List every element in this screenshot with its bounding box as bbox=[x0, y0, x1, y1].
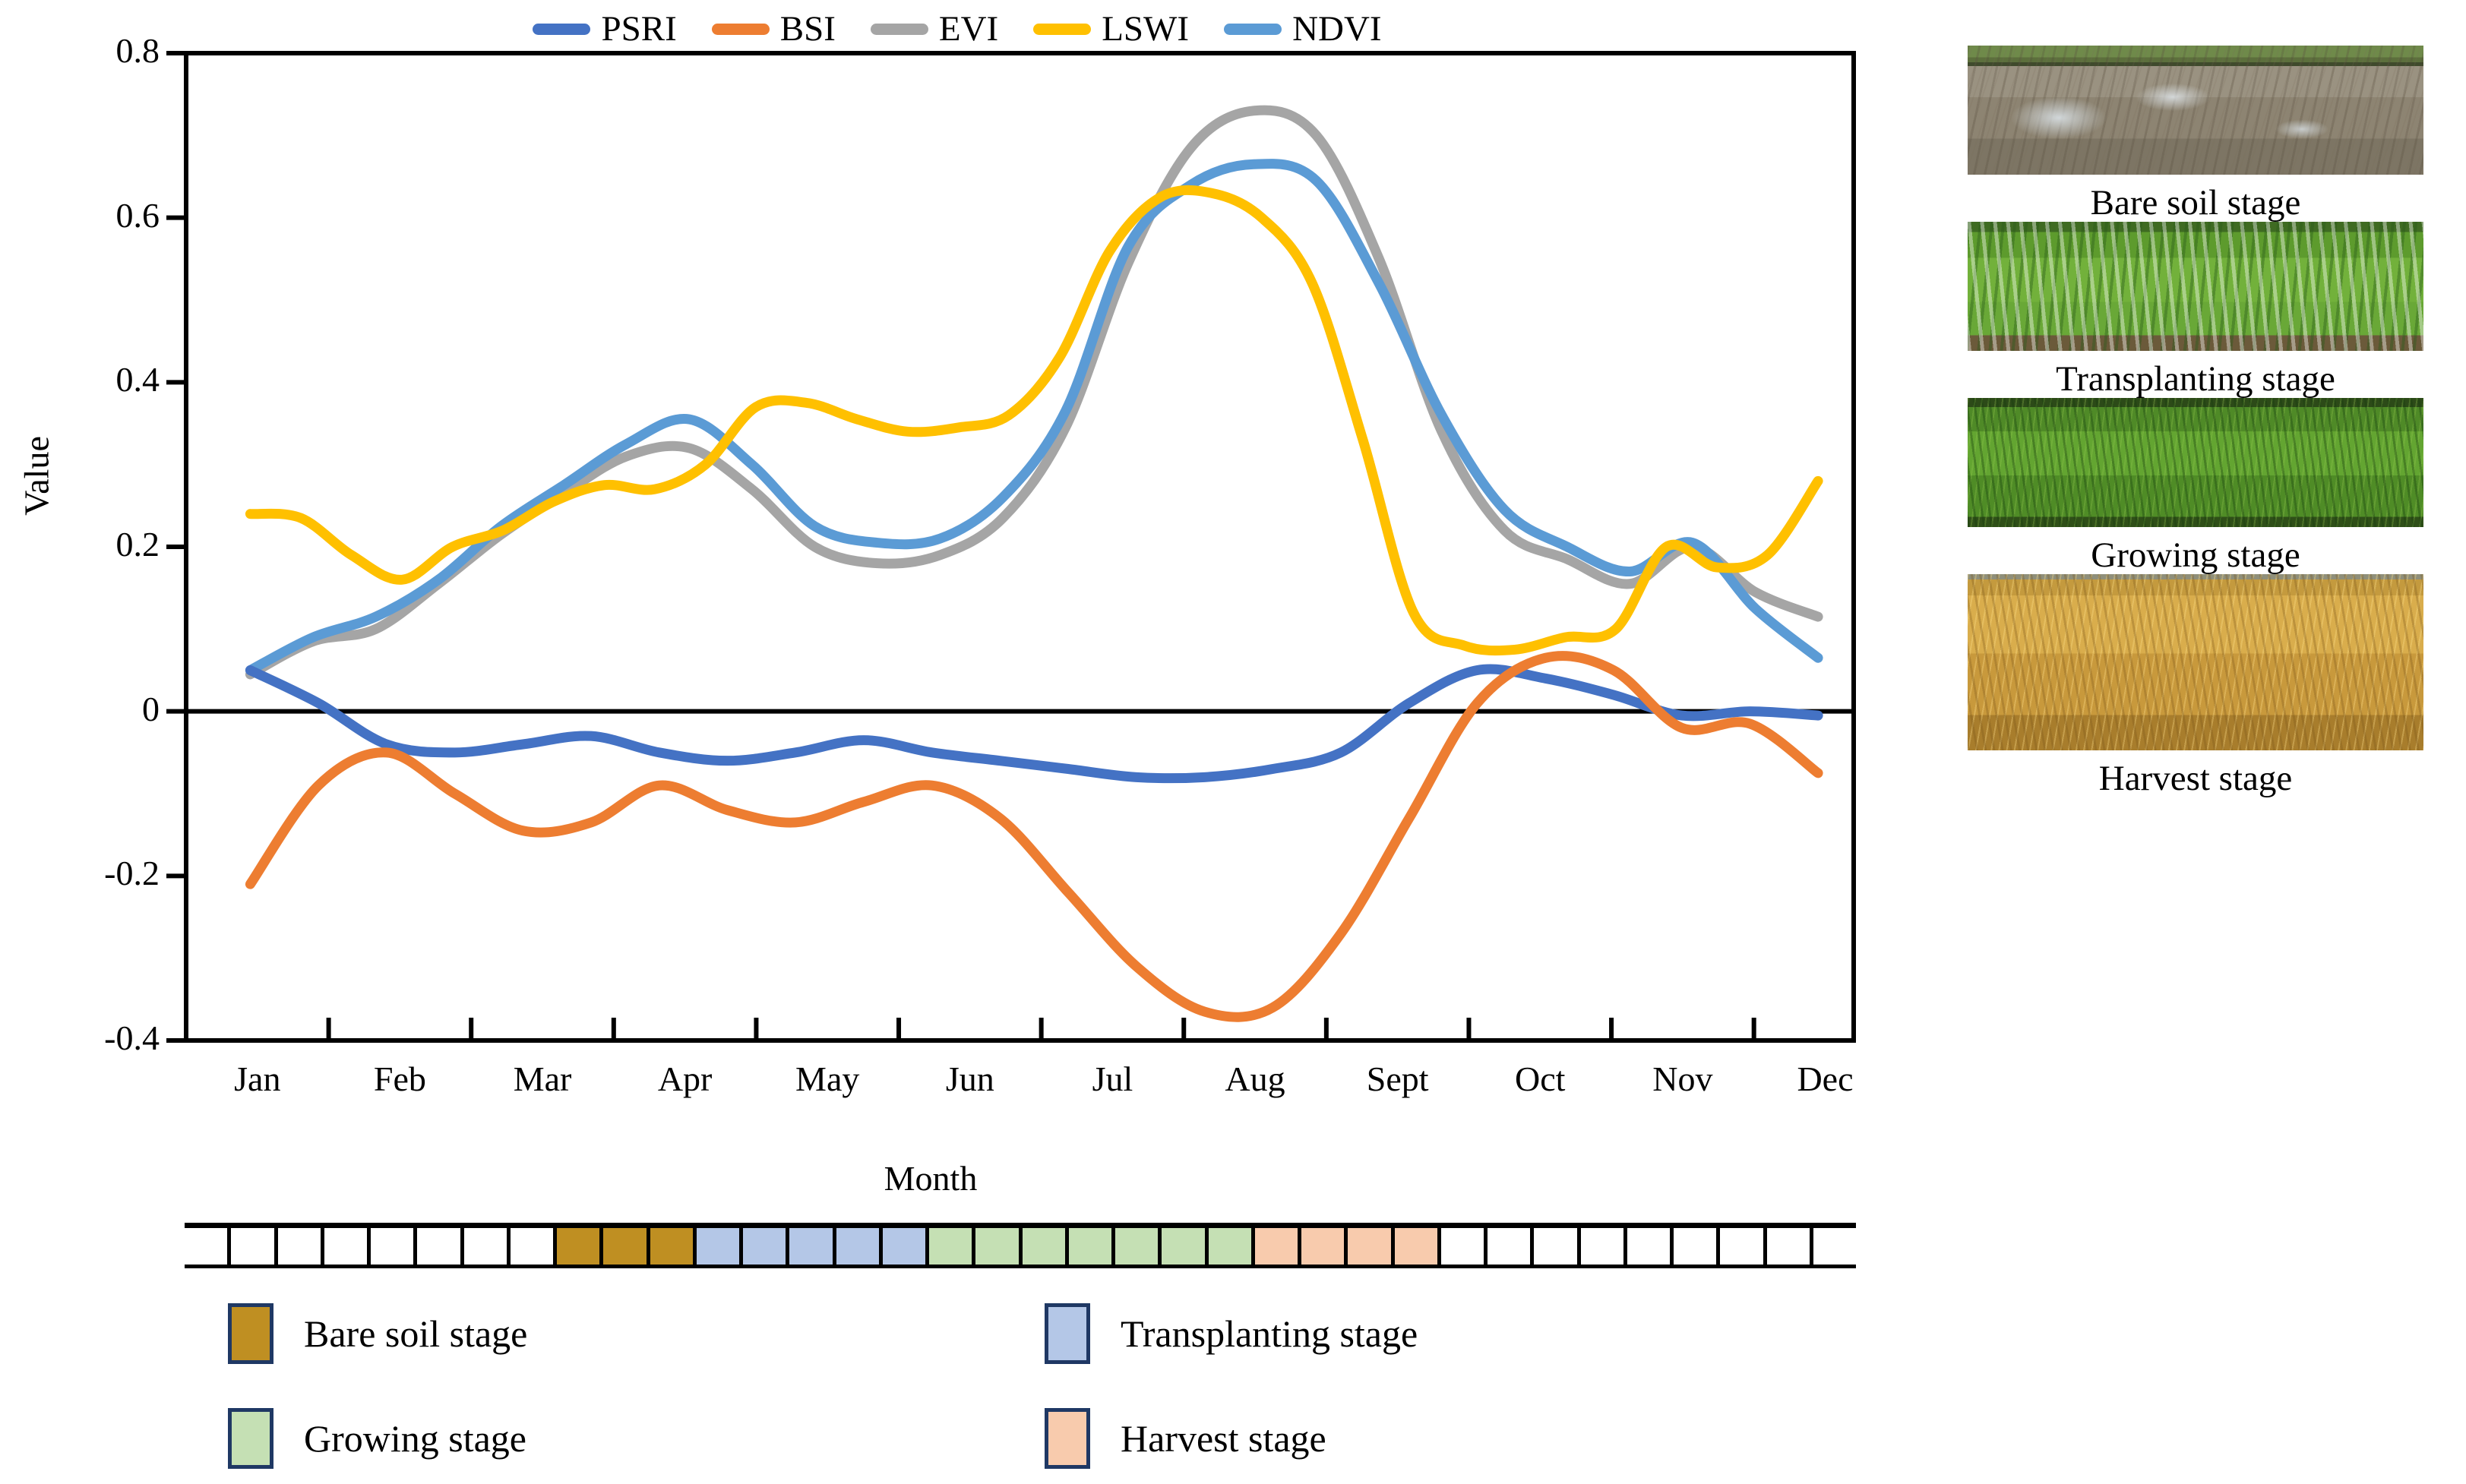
stage-cell-harvest[interactable] bbox=[1301, 1228, 1348, 1265]
stage-cell-harvest[interactable] bbox=[1255, 1228, 1301, 1265]
stage-cell-none[interactable] bbox=[278, 1228, 324, 1265]
crop-stage-bar[interactable] bbox=[185, 1223, 1856, 1268]
psri-color-swatch bbox=[533, 24, 590, 35]
stage-cell-growing[interactable] bbox=[975, 1228, 1022, 1265]
stage-cell-transplant[interactable] bbox=[697, 1228, 743, 1265]
stage-cell-bare[interactable] bbox=[603, 1228, 650, 1265]
x-tick-label-sept: Sept bbox=[1322, 1062, 1474, 1097]
stage-cell-none[interactable] bbox=[1813, 1228, 1856, 1265]
growing-swatch bbox=[228, 1408, 273, 1469]
x-tick-label-dec: Dec bbox=[1749, 1062, 1901, 1097]
stage-cell-growing[interactable] bbox=[1115, 1228, 1162, 1265]
stage-cell-none[interactable] bbox=[1767, 1228, 1813, 1265]
stage-cell-none[interactable] bbox=[1441, 1228, 1488, 1265]
ndvi-color-swatch bbox=[1224, 24, 1282, 35]
harvest-label: Harvest stage bbox=[1121, 1416, 1326, 1460]
line-chart: Value 0.80.60.40.20-0.2-0.4JanFebMarAprM… bbox=[0, 46, 1884, 1078]
harvest-swatch bbox=[1045, 1408, 1090, 1469]
stage-legend-transplanting[interactable]: Transplanting stage bbox=[1045, 1291, 1861, 1376]
growing-photo-caption: Growing stage bbox=[1968, 536, 2423, 576]
stage-legend: Bare soil stage Transplanting stage Grow… bbox=[228, 1291, 1861, 1481]
chart-canvas bbox=[0, 46, 1884, 1078]
photo-block-bare-soil: Bare soil stage bbox=[1968, 46, 2423, 223]
stage-cell-harvest[interactable] bbox=[1395, 1228, 1441, 1265]
stage-cell-none[interactable] bbox=[1720, 1228, 1766, 1265]
stage-cell-harvest[interactable] bbox=[1348, 1228, 1394, 1265]
y-tick-label: 0.2 bbox=[23, 527, 160, 562]
legend-entry-ndvi[interactable]: NDVI bbox=[1224, 11, 1381, 47]
lswi-color-swatch bbox=[1033, 24, 1091, 35]
y-tick-label: 0.4 bbox=[23, 362, 160, 397]
x-tick-label-oct: Oct bbox=[1464, 1062, 1616, 1097]
harvest-photo-caption: Harvest stage bbox=[1968, 759, 2423, 799]
stage-cell-none[interactable] bbox=[371, 1228, 417, 1265]
transplanting-photo bbox=[1968, 222, 2423, 351]
harvest-photo bbox=[1968, 574, 2423, 750]
stage-cell-growing[interactable] bbox=[1023, 1228, 1069, 1265]
stage-cell-none[interactable] bbox=[511, 1228, 557, 1265]
x-tick-label-jul: Jul bbox=[1036, 1062, 1188, 1097]
stage-cell-none[interactable] bbox=[185, 1228, 231, 1265]
photo-block-growing: Growing stage bbox=[1968, 398, 2423, 576]
figure-root: PSRI BSI EVI LSWI NDVI Value 0.80.60.40.… bbox=[0, 0, 2466, 1484]
growing-photo bbox=[1968, 398, 2423, 527]
lswi-legend-label: LSWI bbox=[1102, 11, 1189, 47]
y-tick-label: -0.4 bbox=[23, 1021, 160, 1056]
stage-cell-bare[interactable] bbox=[650, 1228, 697, 1265]
stage-legend-growing[interactable]: Growing stage bbox=[228, 1396, 1045, 1481]
x-tick-label-jun: Jun bbox=[894, 1062, 1046, 1097]
x-tick-label-may: May bbox=[751, 1062, 903, 1097]
y-tick-label: -0.2 bbox=[23, 856, 160, 891]
transplanting-photo-caption: Transplanting stage bbox=[1968, 360, 2423, 399]
stage-legend-harvest[interactable]: Harvest stage bbox=[1045, 1396, 1861, 1481]
stage-cell-transplant[interactable] bbox=[883, 1228, 929, 1265]
stage-cell-none[interactable] bbox=[464, 1228, 511, 1265]
x-axis-title: Month bbox=[0, 1158, 1861, 1198]
ndvi-legend-label: NDVI bbox=[1292, 11, 1381, 47]
y-tick-label: 0.8 bbox=[23, 33, 160, 68]
stage-cell-transplant[interactable] bbox=[836, 1228, 883, 1265]
stage-cell-growing[interactable] bbox=[1209, 1228, 1255, 1265]
evi-legend-label: EVI bbox=[939, 11, 998, 47]
stage-cell-growing[interactable] bbox=[929, 1228, 975, 1265]
photo-block-harvest: Harvest stage bbox=[1968, 574, 2423, 799]
stage-cell-none[interactable] bbox=[324, 1228, 371, 1265]
stage-cell-growing[interactable] bbox=[1069, 1228, 1115, 1265]
series-line-ndvi[interactable] bbox=[250, 164, 1818, 671]
x-tick-label-feb: Feb bbox=[324, 1062, 476, 1097]
series-line-psri[interactable] bbox=[250, 669, 1818, 778]
bsi-color-swatch bbox=[712, 24, 770, 35]
series-legend: PSRI BSI EVI LSWI NDVI bbox=[425, 6, 1489, 52]
x-tick-label-apr: Apr bbox=[609, 1062, 761, 1097]
stage-cell-transplant[interactable] bbox=[789, 1228, 836, 1265]
transplanting-label: Transplanting stage bbox=[1121, 1312, 1418, 1356]
bare-soil-label: Bare soil stage bbox=[304, 1312, 527, 1356]
stage-cell-none[interactable] bbox=[1674, 1228, 1720, 1265]
plot-frame bbox=[186, 53, 1854, 1040]
stage-cell-none[interactable] bbox=[1581, 1228, 1627, 1265]
bare-soil-photo bbox=[1968, 46, 2423, 175]
x-tick-label-nov: Nov bbox=[1607, 1062, 1759, 1097]
stage-cell-none[interactable] bbox=[231, 1228, 277, 1265]
series-line-lswi[interactable] bbox=[250, 190, 1818, 650]
psri-legend-label: PSRI bbox=[601, 11, 676, 47]
legend-entry-evi[interactable]: EVI bbox=[871, 11, 998, 47]
bare-soil-photo-caption: Bare soil stage bbox=[1968, 184, 2423, 223]
stage-cell-growing[interactable] bbox=[1162, 1228, 1208, 1265]
stage-cell-none[interactable] bbox=[1627, 1228, 1674, 1265]
x-tick-label-jan: Jan bbox=[182, 1062, 334, 1097]
x-tick-label-aug: Aug bbox=[1179, 1062, 1331, 1097]
x-tick-label-mar: Mar bbox=[466, 1062, 618, 1097]
photo-block-transplanting: Transplanting stage bbox=[1968, 222, 2423, 399]
stage-cell-none[interactable] bbox=[417, 1228, 463, 1265]
stage-legend-bare-soil[interactable]: Bare soil stage bbox=[228, 1291, 1045, 1376]
stage-cell-none[interactable] bbox=[1534, 1228, 1580, 1265]
legend-entry-bsi[interactable]: BSI bbox=[712, 11, 836, 47]
legend-entry-lswi[interactable]: LSWI bbox=[1033, 11, 1189, 47]
y-tick-label: 0 bbox=[23, 692, 160, 727]
legend-entry-psri[interactable]: PSRI bbox=[533, 11, 676, 47]
evi-color-swatch bbox=[871, 24, 928, 35]
bsi-legend-label: BSI bbox=[780, 11, 836, 47]
bare-soil-swatch bbox=[228, 1303, 273, 1364]
growing-label: Growing stage bbox=[304, 1416, 526, 1460]
stage-cell-transplant[interactable] bbox=[743, 1228, 789, 1265]
stage-cell-bare[interactable] bbox=[557, 1228, 603, 1265]
y-tick-label: 0.6 bbox=[23, 198, 160, 233]
stage-cell-none[interactable] bbox=[1488, 1228, 1534, 1265]
stage-photo-column: Bare soil stage Transplanting stage Grow… bbox=[1968, 46, 2439, 1458]
transplanting-swatch bbox=[1045, 1303, 1090, 1364]
